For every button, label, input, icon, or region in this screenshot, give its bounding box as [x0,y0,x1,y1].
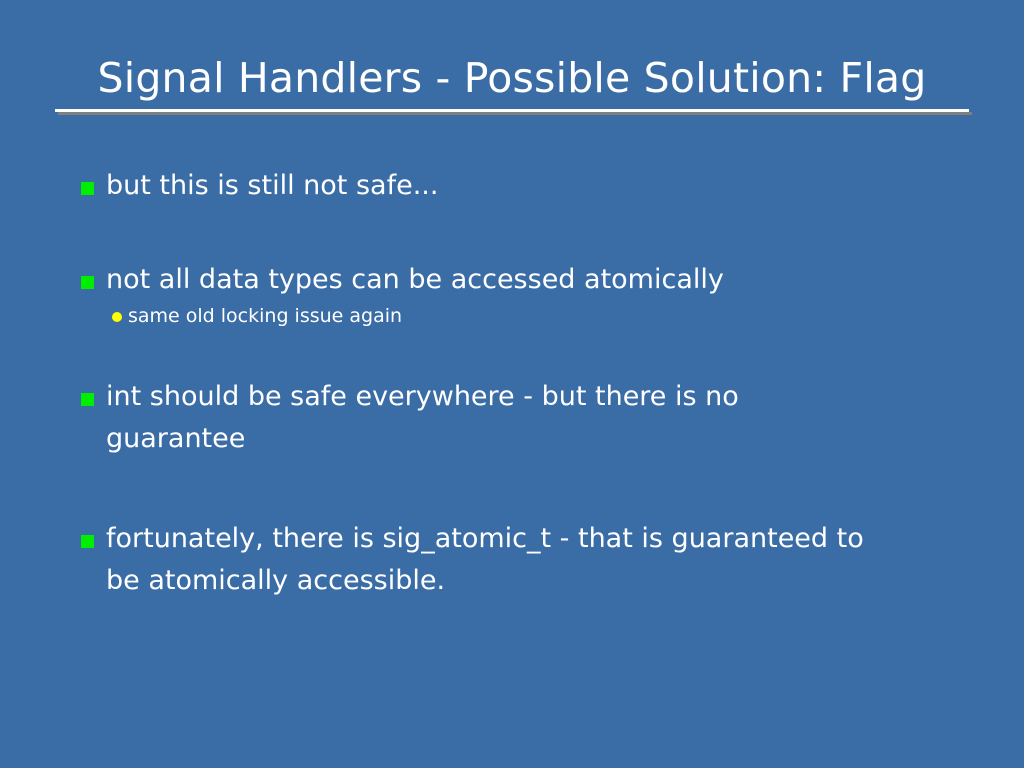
bullet-group-2: not all data types can be accessed atomi… [81,259,941,331]
spacer [81,207,941,259]
spacer [81,331,941,376]
sub-list-item-label: same old locking issue again [128,305,402,327]
slide-body: but this is still not safe... not all da… [81,165,941,602]
square-bullet-icon [81,182,94,195]
bullet-group-3: int should be safe everywhere - but ther… [81,376,941,460]
square-bullet-icon [81,276,94,289]
bullet-group-1: but this is still not safe... [81,165,941,207]
list-item-label: but this is still not safe... [106,170,438,201]
list-item-label: int should be safe everywhere - but ther… [106,381,739,454]
sub-list-item: same old locking issue again [81,301,868,331]
square-bullet-icon [81,535,94,548]
list-item: but this is still not safe... [81,165,866,207]
title-underline-shadow [58,112,972,115]
list-item-label: not all data types can be accessed atomi… [106,264,724,295]
list-item: fortunately, there is sig_atomic_t - tha… [81,518,866,602]
slide-title-block: Signal Handlers - Possible Solution: Fla… [55,52,969,112]
spacer [81,460,941,518]
list-item: int should be safe everywhere - but ther… [81,376,866,460]
page-title: Signal Handlers - Possible Solution: Fla… [55,52,969,104]
title-underline-rule [55,109,969,112]
bullet-group-4: fortunately, there is sig_atomic_t - tha… [81,518,941,602]
list-item: not all data types can be accessed atomi… [81,259,866,301]
square-bullet-icon [81,393,94,406]
dot-bullet-icon [112,312,122,322]
list-item-label: fortunately, there is sig_atomic_t - tha… [106,523,864,596]
presentation-slide: Signal Handlers - Possible Solution: Fla… [0,0,1024,768]
